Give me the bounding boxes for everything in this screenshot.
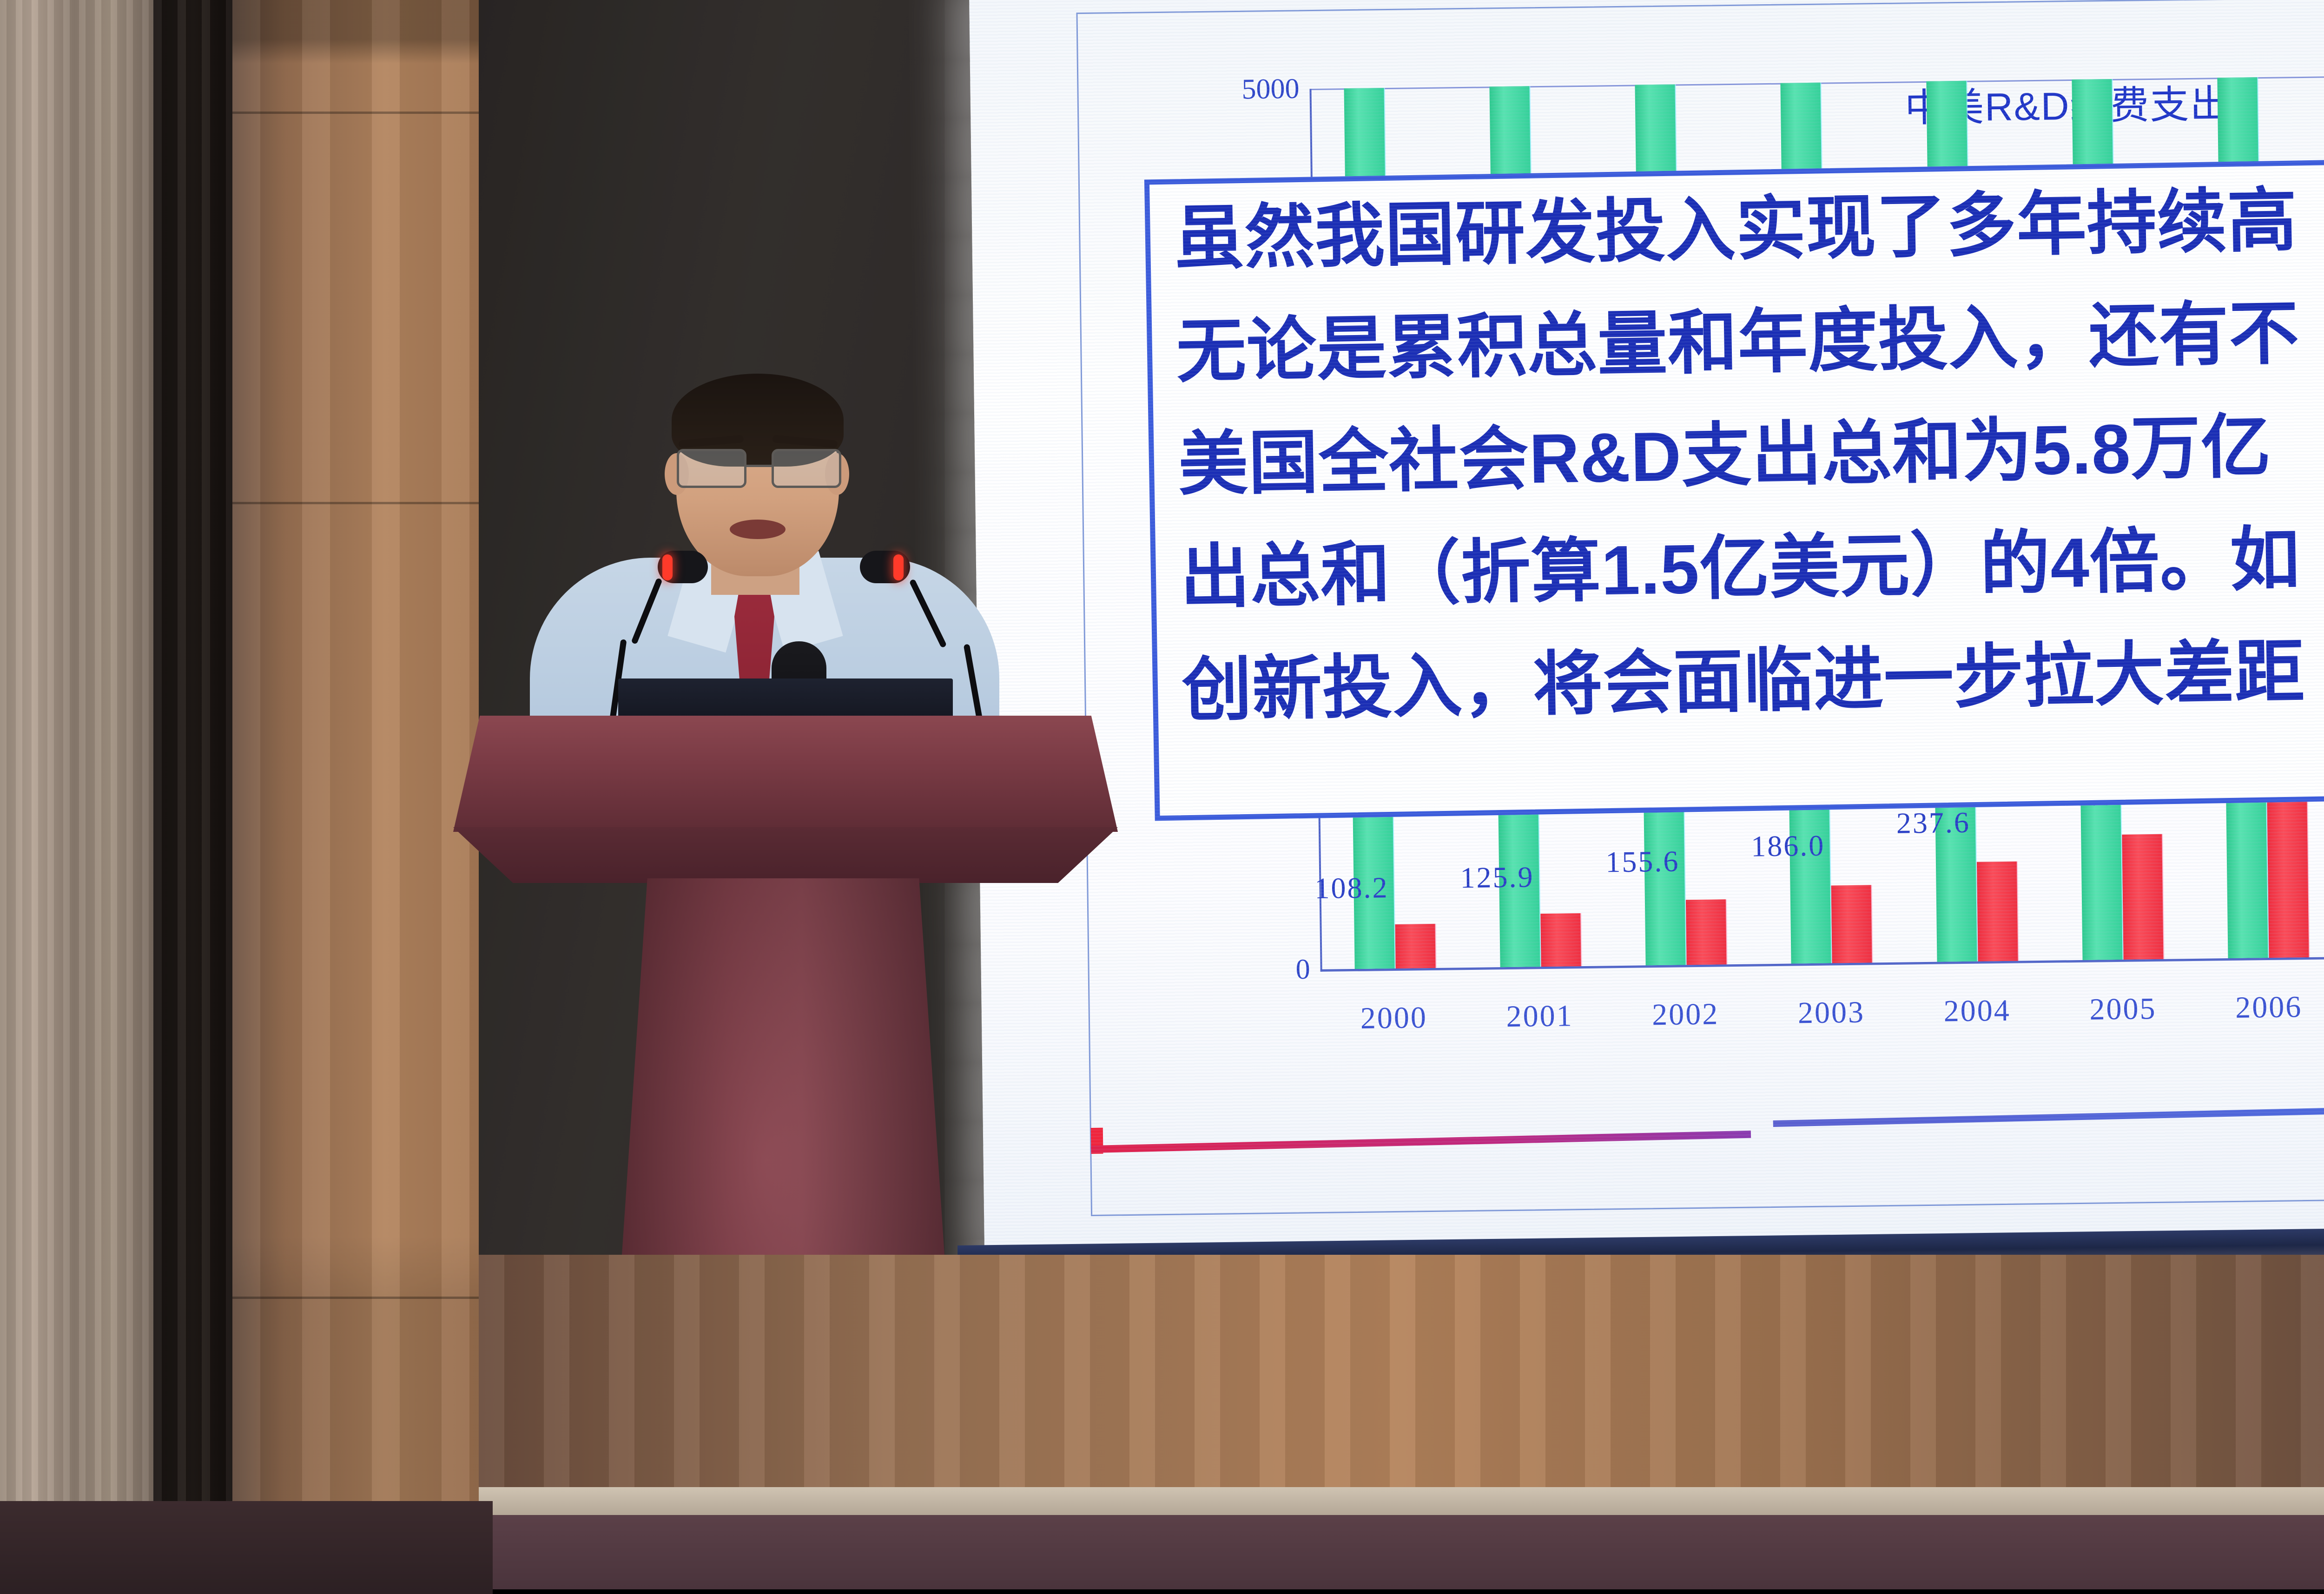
callout-line: 无论是累积总量和年度投入，还有不: [1176, 294, 2324, 387]
slide-text-callout-box: 虽然我国研发投入实现了多年持续高 无论是累积总量和年度投入，还有不 美国全社会R…: [1144, 158, 2324, 821]
bar-china: [2267, 800, 2309, 958]
eyeglasses-icon: [673, 449, 846, 488]
mouth: [730, 520, 786, 539]
bar-value-label: 186.0: [1751, 828, 1825, 863]
lens-right: [772, 449, 841, 488]
callout-line: 创新投入，将会面临进一步拉大差距: [1182, 632, 2324, 725]
x-axis-tick-labels: 2000 2001 2002 2003 2004 2005 2006 2007: [1321, 987, 2324, 1037]
lower-wall: [479, 1255, 2324, 1515]
bar-china: [2122, 834, 2163, 960]
x-axis-tick-label: 2005: [2050, 991, 2196, 1028]
x-axis-tick-label: 2006: [2196, 989, 2324, 1026]
bar-china: [1831, 885, 1872, 963]
callout-line: 虽然我国研发投入实现了多年持续高: [1174, 181, 2324, 274]
lens-left: [677, 449, 746, 488]
mic-stem: [909, 579, 947, 648]
x-axis-tick-label: 2001: [1466, 998, 1613, 1035]
bar-value-label: 125.9: [1460, 860, 1534, 896]
bar-value-label: 155.6: [1605, 844, 1680, 880]
projection-screen: 中美R&D经费支出 5000 4000 3000 2000 1000 0: [969, 0, 2324, 1269]
mic-stem: [631, 578, 662, 645]
floor-left: [0, 1501, 493, 1594]
bar-value-label: 108.2: [1314, 870, 1389, 906]
x-axis-tick-label: 2000: [1321, 1000, 1467, 1037]
bar-china: [1686, 899, 1727, 965]
bar-china: [1977, 861, 2018, 961]
lectern-top: [453, 716, 1118, 832]
callout-line: 美国全社会R&D支出总和为5.8万亿: [1178, 407, 2324, 500]
y-axis-tick-label: 0: [1295, 953, 1310, 986]
glasses-bridge: [746, 465, 772, 467]
bar-china: [1540, 913, 1581, 967]
light-curtain: [0, 0, 177, 1584]
callout-line: 出总和（折算1.5亿美元）的4倍。如: [1180, 520, 2324, 613]
x-axis-tick-label: 2002: [1612, 996, 1759, 1033]
conference-room-scene: 中美R&D经费支出 5000 4000 3000 2000 1000 0: [0, 0, 2324, 1584]
y-axis-tick-label: 5000: [1241, 72, 1300, 106]
x-axis-tick-label: 2004: [1904, 993, 2050, 1030]
mic-indicator-light: [662, 554, 673, 580]
mic-indicator-light: [893, 554, 904, 580]
x-axis-tick-label: 2003: [1758, 995, 1905, 1032]
bar-china: [1395, 924, 1435, 968]
bar-value-label: 237.6: [1896, 805, 1970, 841]
lectern-lip: [453, 827, 1118, 883]
